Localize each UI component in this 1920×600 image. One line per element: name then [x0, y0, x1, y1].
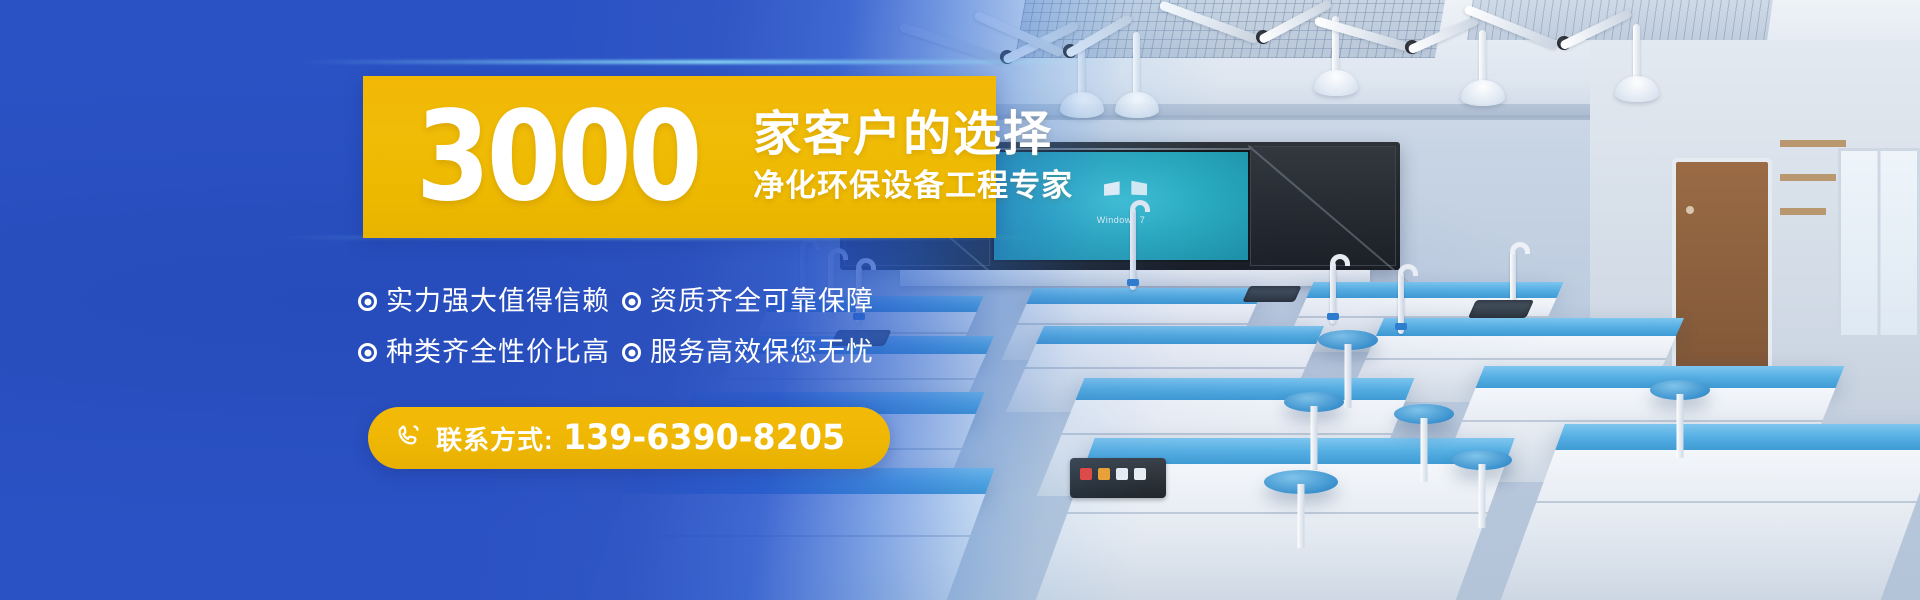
banner-content: 3000 家客户的选择 净化环保设备工程专家 实力强大值得信赖 资质齐全可靠保障	[0, 0, 1920, 600]
feature-item: 资质齐全可靠保障	[622, 288, 874, 315]
radio-dot-icon	[622, 343, 641, 362]
feature-label: 资质齐全可靠保障	[650, 288, 874, 315]
contact-phone-pill[interactable]: 联系方式: 139-6390-8205	[368, 407, 890, 469]
contact-label: 联系方式:	[436, 420, 554, 457]
feature-item: 服务高效保您无忧	[622, 339, 874, 366]
radio-dot-icon	[358, 292, 377, 311]
headline-line-2: 净化环保设备工程专家	[753, 167, 1073, 204]
feature-list: 实力强大值得信赖 资质齐全可靠保障 种类齐全性价比高 服务高效保您无忧	[358, 288, 978, 390]
feature-row: 实力强大值得信赖 资质齐全可靠保障	[358, 288, 978, 315]
feature-label: 服务高效保您无忧	[650, 339, 874, 366]
headline-text-group: 家客户的选择 净化环保设备工程专家	[753, 109, 1073, 204]
radio-dot-icon	[622, 292, 641, 311]
feature-label: 实力强大值得信赖	[386, 288, 610, 315]
headline-line-1: 家客户的选择	[753, 109, 1073, 161]
promo-banner: Windows 7	[0, 0, 1920, 600]
radio-dot-icon	[358, 343, 377, 362]
feature-item: 实力强大值得信赖	[358, 288, 586, 315]
headline-number: 3000	[416, 104, 699, 211]
phone-handset-icon	[392, 422, 424, 454]
contact-number: 139-6390-8205	[563, 418, 845, 458]
feature-item: 种类齐全性价比高	[358, 339, 586, 366]
headline-block: 3000 家客户的选择 净化环保设备工程专家	[363, 76, 996, 238]
feature-label: 种类齐全性价比高	[386, 339, 610, 366]
feature-row: 种类齐全性价比高 服务高效保您无忧	[358, 339, 978, 366]
